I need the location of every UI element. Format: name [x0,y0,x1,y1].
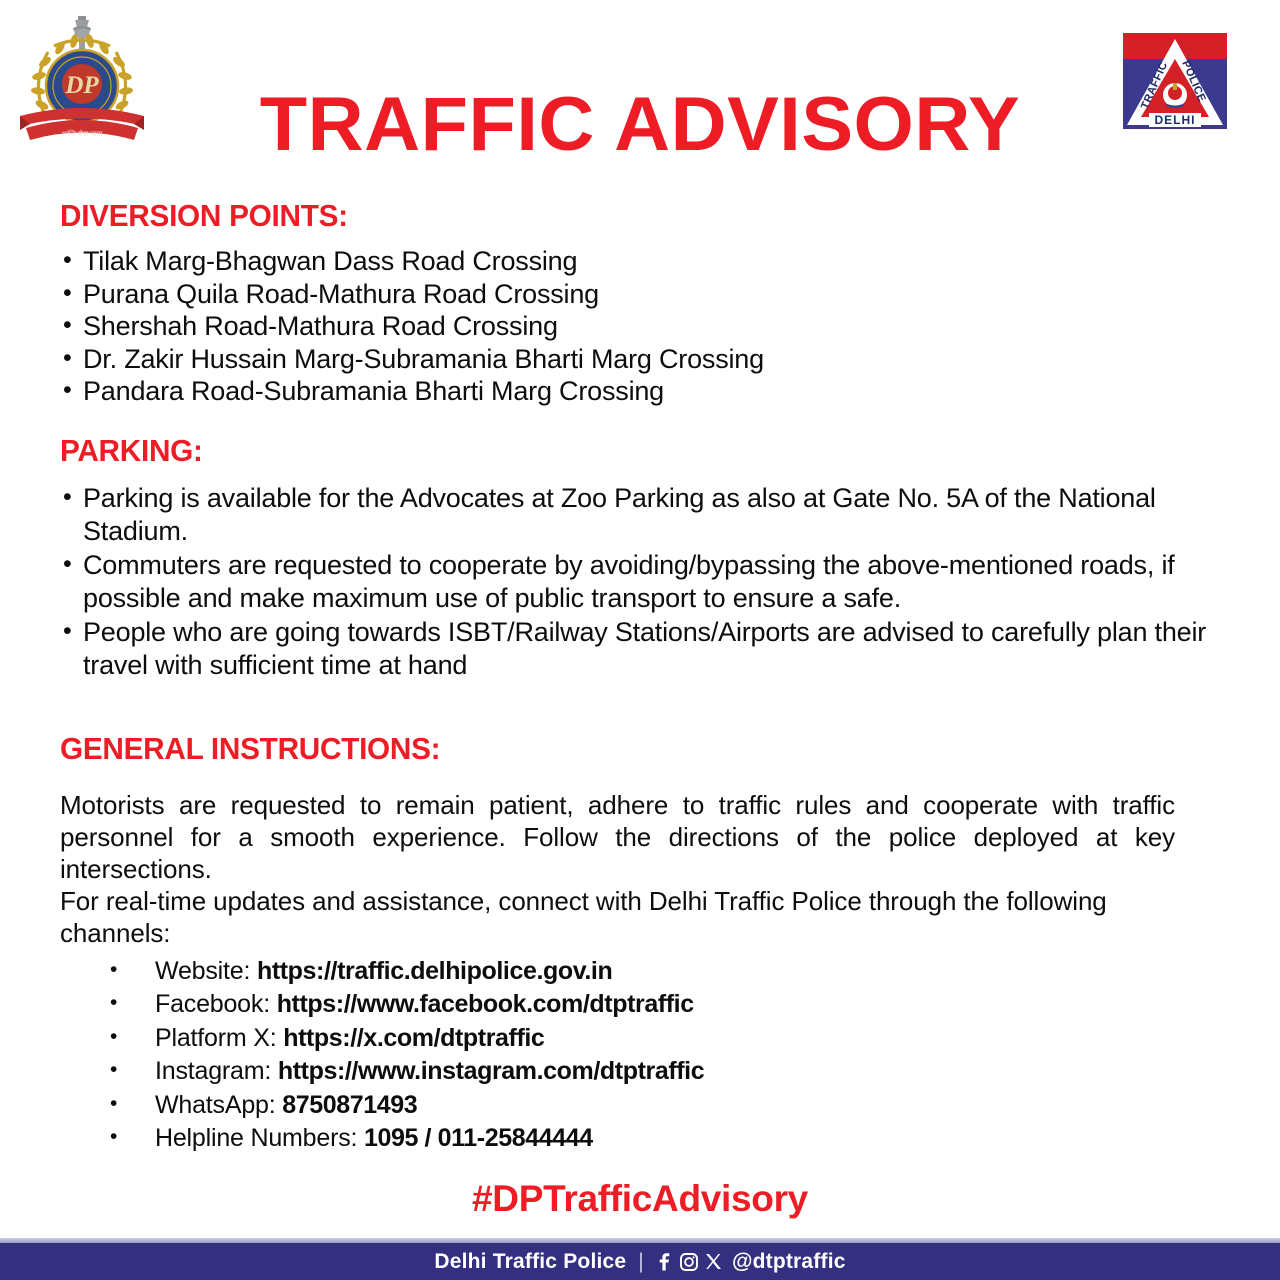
footer-handle[interactable]: @dtptraffic [732,1250,846,1274]
footer-bar: Delhi Traffic Police | @dtptraf [0,1243,1280,1280]
list-item: Tilak Marg-Bhagwan Dass Road Crossing [61,245,1280,278]
channel-website[interactable]: Website: https://traffic.delhipolice.gov… [110,955,1280,989]
channel-label: Facebook: [155,990,270,1018]
channel-label: Helpline Numbers: [155,1124,357,1152]
footer-social-icons [656,1253,722,1271]
list-item: Shershah Road-Mathura Road Crossing [61,310,1280,343]
general-instructions-heading: GENERAL INSTRUCTIONS: [60,731,1231,767]
list-item: Purana Quila Road-Mathura Road Crossing [61,278,1280,311]
footer-org-name: Delhi Traffic Police [434,1250,626,1274]
general-paragraph-2: For real-time updates and assistance, co… [60,885,1175,949]
list-item: Dr. Zakir Hussain Marg-Subramania Bharti… [61,343,1280,376]
channel-helpline[interactable]: Helpline Numbers: 1095 / 011-25844444 [110,1122,1280,1156]
channel-label: Platform X: [155,1024,276,1052]
hashtag: #DPTrafficAdvisory [0,1178,1280,1220]
general-paragraph-1: Motorists are requested to remain patien… [60,789,1175,885]
advisory-body: DIVERSION POINTS: Tilak Marg-Bhagwan Das… [0,160,1280,1220]
parking-list: Parking is available for the Advocates a… [61,482,1280,683]
channel-value[interactable]: https://www.facebook.com/dtptraffic [277,990,694,1018]
traffic-police-delhi-logo: TRAFFIC POLICE DELHI [1123,33,1227,129]
channel-instagram[interactable]: Instagram: https://www.instagram.com/dtp… [110,1055,1280,1089]
contact-channels-list: Website: https://traffic.delhipolice.gov… [0,955,1280,1156]
channel-platform-x[interactable]: Platform X: https://x.com/dtptraffic [110,1022,1280,1056]
list-item: Pandara Road-Subramania Bharti Marg Cros… [61,375,1280,408]
x-icon[interactable] [705,1253,722,1270]
channel-value[interactable]: https://traffic.delhipolice.gov.in [257,957,612,985]
channel-value[interactable]: https://x.com/dtptraffic [283,1024,544,1052]
list-item: People who are going towards ISBT/Railwa… [61,616,1248,683]
header: DP शान्ति सेवा न्याय TRAFFIC ADVISORY [0,0,1280,160]
diversion-points-list: Tilak Marg-Bhagwan Dass Road Crossing Pu… [61,245,1280,408]
channel-facebook[interactable]: Facebook: https://www.facebook.com/dtptr… [110,988,1280,1022]
diversion-points-heading: DIVERSION POINTS: [60,198,1231,234]
channel-label: Instagram: [155,1057,271,1085]
channel-label: Website: [155,957,250,985]
channel-value[interactable]: 1095 / 011-25844444 [364,1124,593,1152]
channel-value[interactable]: 8750871493 [282,1091,417,1119]
svg-text:DELHI: DELHI [1155,113,1196,127]
instagram-icon[interactable] [680,1253,698,1271]
channel-value[interactable]: https://www.instagram.com/dtptraffic [278,1057,704,1085]
list-item: Parking is available for the Advocates a… [61,482,1188,549]
footer-separator: | [638,1250,644,1274]
parking-heading: PARKING: [60,433,1231,469]
channel-label: WhatsApp: [155,1091,275,1119]
page-title: TRAFFIC ADVISORY [0,87,1280,163]
facebook-icon[interactable] [656,1253,673,1271]
list-item: Commuters are requested to cooperate by … [61,549,1213,616]
channel-whatsapp[interactable]: WhatsApp: 8750871493 [110,1089,1280,1123]
